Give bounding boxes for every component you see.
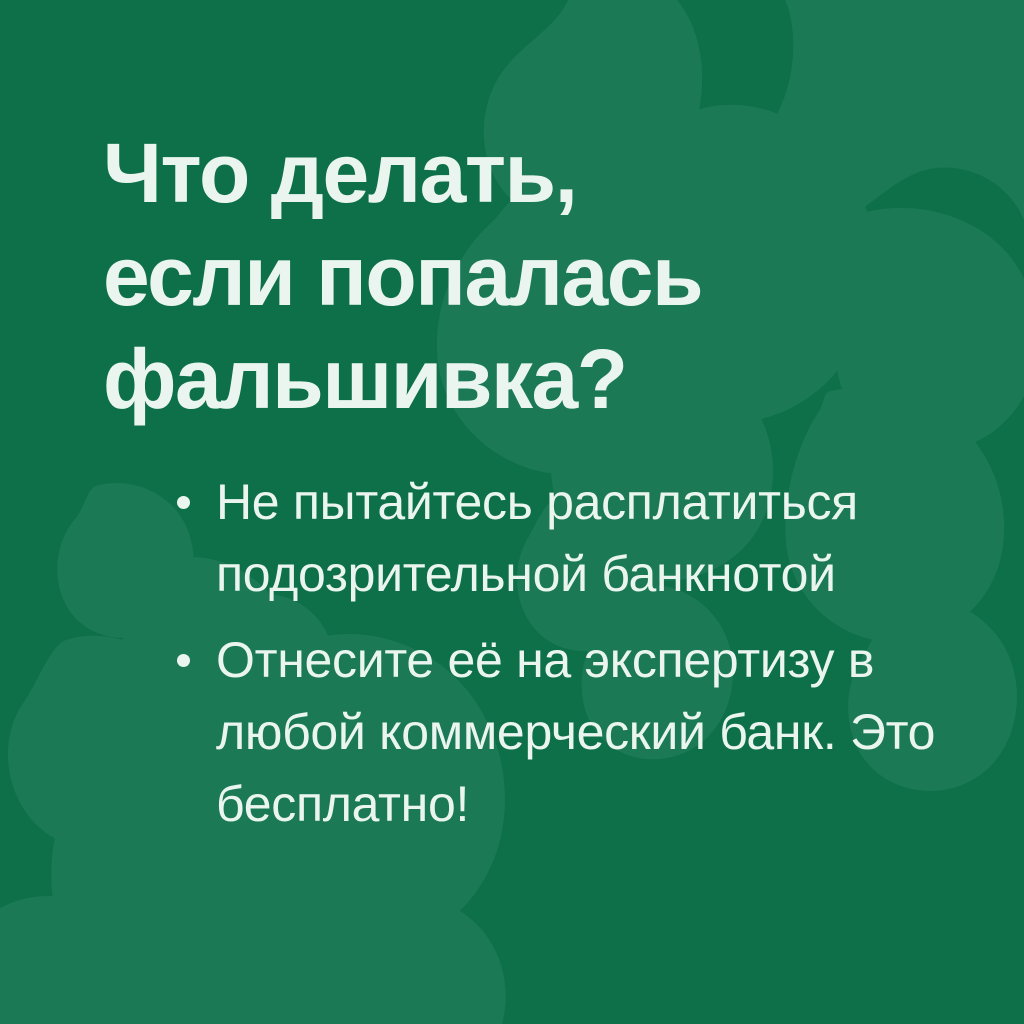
advice-bullet-list: Не пытайтесь расплатиться подозрительной… xyxy=(168,466,968,840)
bullet-dot-icon xyxy=(177,496,190,509)
page-title: Что делать, если попалась фальшивка? xyxy=(103,122,923,431)
list-item-label: Отнесите её на экспертизу в любой коммер… xyxy=(216,632,935,832)
list-item: Не пытайтесь расплатиться подозрительной… xyxy=(168,466,968,610)
poster-canvas: Что делать, если попалась фальшивка? Не … xyxy=(0,0,1024,1024)
bullet-dot-icon xyxy=(177,654,190,667)
poster-content: Что делать, если попалась фальшивка? Не … xyxy=(0,0,1024,1024)
list-item: Отнесите её на экспертизу в любой коммер… xyxy=(168,624,968,840)
list-item-label: Не пытайтесь расплатиться подозрительной… xyxy=(216,474,858,602)
